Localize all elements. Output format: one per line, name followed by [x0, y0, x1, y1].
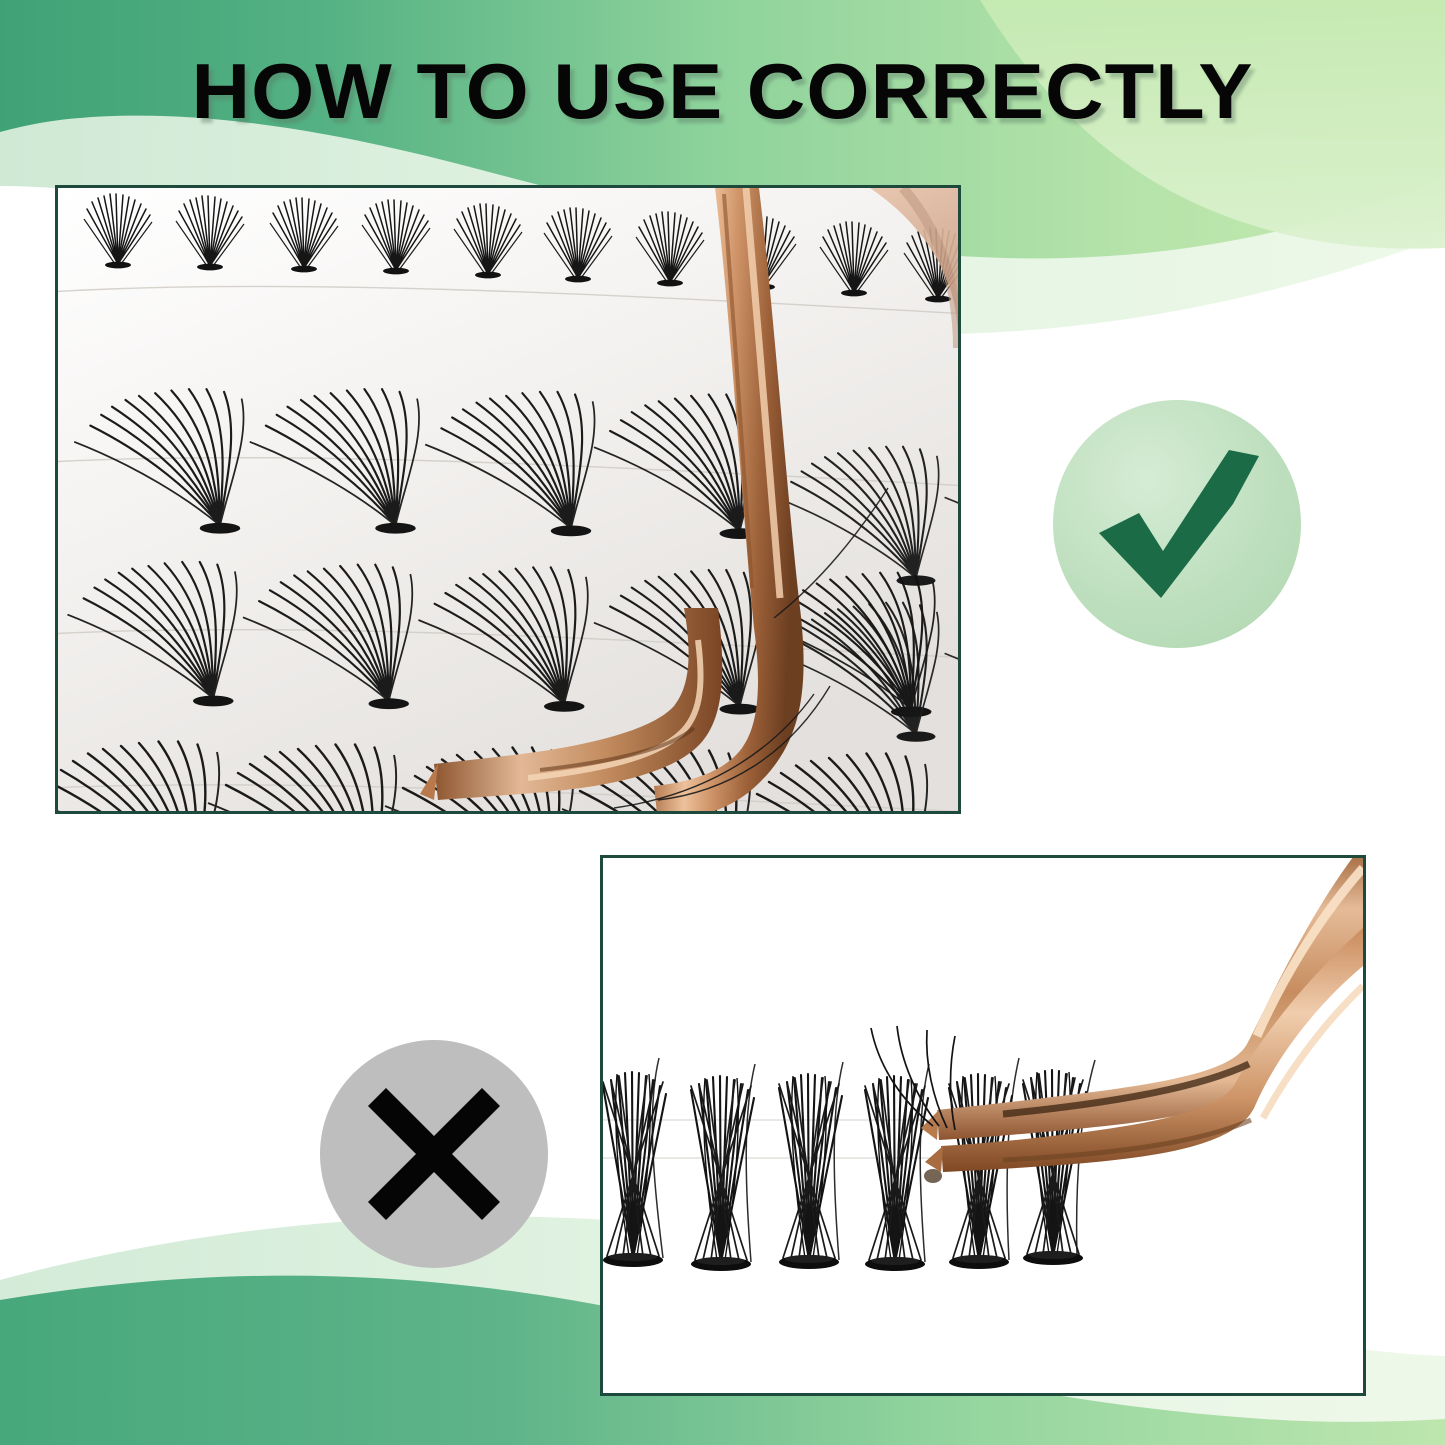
cross-icon — [320, 1040, 548, 1268]
lash-tray-photo — [58, 188, 958, 811]
infographic-root: HOW TO USE CORRECTLY — [0, 0, 1445, 1445]
cross-mark-glyph — [320, 1040, 548, 1268]
page-title: HOW TO USE CORRECTLY — [0, 46, 1445, 137]
check-mark-glyph — [1053, 400, 1301, 648]
check-icon — [1053, 400, 1301, 648]
correct-usage-photo — [55, 185, 961, 814]
lash-side-grab-photo — [603, 858, 1363, 1393]
incorrect-usage-photo — [600, 855, 1366, 1396]
